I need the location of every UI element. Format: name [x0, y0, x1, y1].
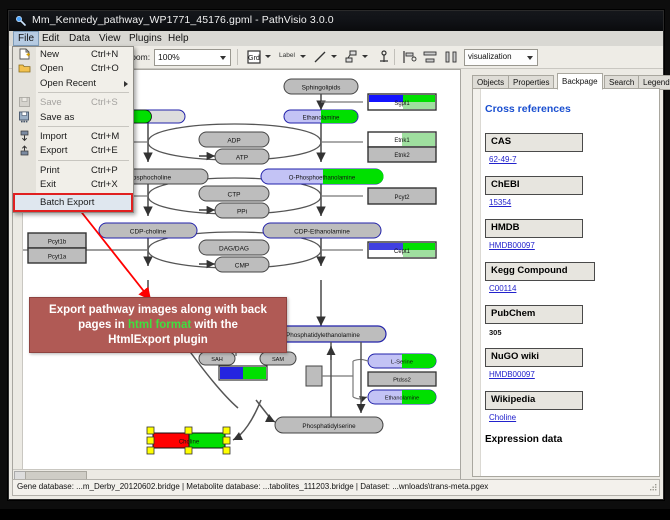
align-left-icon[interactable]: [401, 49, 417, 65]
file-menu-print-accel: Ctrl+P: [91, 165, 118, 176]
node-o-phosphoethanolamine[interactable]: O-Phosphoethanolamine: [261, 169, 384, 184]
svg-text:O-Phosphoethanolamine: O-Phosphoethanolamine: [289, 176, 356, 182]
visualization-combo[interactable]: visualization: [464, 49, 538, 66]
gene-chka[interactable]: [219, 366, 267, 380]
svg-text:CTP: CTP: [228, 192, 241, 199]
xref-source-cas: CAS: [485, 133, 583, 152]
save-as-icon: [18, 111, 31, 123]
gene-pcyt1b[interactable]: Pcyt1b: [28, 233, 86, 248]
status-bar: Gene database: ...m_Derby_20120602.bridg…: [12, 479, 660, 496]
file-menu-item-import[interactable]: Import Ctrl+M: [13, 129, 133, 143]
callout-line-3: HtmlExport plugin: [108, 334, 208, 346]
xref-source-label: CAS: [491, 136, 511, 147]
reaction-node-box[interactable]: [306, 366, 322, 386]
svg-text:CDP-choline: CDP-choline: [130, 229, 167, 236]
submenu-arrow-icon: [124, 81, 128, 87]
backpage-scrollbar[interactable]: [473, 89, 481, 476]
svg-text:Cept1: Cept1: [394, 249, 411, 255]
file-menu-exit-accel: Ctrl+X: [91, 179, 118, 190]
zoom-combo[interactable]: 100%: [154, 49, 231, 66]
svg-text:Phosphatidylserine: Phosphatidylserine: [302, 423, 356, 430]
node-cmp[interactable]: CMP: [215, 257, 269, 272]
xref-source-label: HMDB: [491, 222, 520, 233]
save-disk-icon: [18, 96, 31, 108]
gene-cept1[interactable]: Cept1: [368, 242, 436, 258]
anchor-tool-icon[interactable]: [376, 49, 392, 65]
file-menu-item-print[interactable]: Print Ctrl+P: [13, 163, 133, 177]
status-bar-text: Gene database: ...m_Derby_20120602.bridg…: [17, 482, 488, 491]
node-ppi[interactable]: PPi: [215, 203, 269, 218]
file-menu-item-open-recent[interactable]: Open Recent: [13, 76, 133, 90]
callout-line-2-post: with the: [191, 319, 238, 331]
shape-tool-icon[interactable]: [343, 49, 359, 65]
file-menu-new-label: New: [40, 49, 59, 60]
toolbar-separator-3: [394, 49, 395, 65]
backpage-panel[interactable]: Cross references CAS 62-49-7 ChEBI 15354…: [472, 88, 660, 477]
xref-value-cas[interactable]: 62-49-7: [489, 155, 517, 164]
xref-source-label: Wikipedia: [491, 394, 535, 405]
callout-line-1: Export pathway images along with back: [49, 304, 267, 316]
file-menu-item-new[interactable]: New Ctrl+N: [13, 47, 133, 61]
menu-help[interactable]: Help: [164, 32, 193, 45]
node-phosphatidylserine[interactable]: Phosphatidylserine: [275, 417, 383, 433]
visualization-value: visualization: [468, 52, 512, 61]
label-tool-text: Label: [279, 52, 295, 59]
file-menu-open-accel: Ctrl+O: [91, 63, 119, 74]
svg-text:Choline: Choline: [179, 440, 200, 446]
svg-text:L-Serine: L-Serine: [391, 360, 413, 366]
node-ctp[interactable]: CTP: [199, 186, 269, 201]
menu-bar: File Edit Data View Plugins Help: [9, 31, 663, 47]
node-sam[interactable]: SAM: [260, 352, 296, 365]
svg-text:DAG/DAG: DAG/DAG: [219, 246, 249, 253]
menu-file[interactable]: File: [13, 31, 39, 46]
tab-backpage[interactable]: Backpage: [557, 73, 603, 90]
node-choline-selected[interactable]: Choline: [147, 427, 230, 454]
node-cdp-choline[interactable]: CDP-choline: [99, 223, 197, 238]
xref-value-kegg-compound[interactable]: C00114: [489, 284, 516, 293]
menu-edit[interactable]: Edit: [38, 32, 63, 45]
svg-text:CDP-Ethanolamine: CDP-Ethanolamine: [294, 229, 350, 236]
node-l-serine[interactable]: L-Serine: [368, 354, 436, 368]
gene-sgpl1[interactable]: Sgpl1: [368, 94, 436, 110]
chevron-down-icon: [220, 56, 226, 60]
open-folder-icon: [18, 62, 31, 74]
svg-text:Etnk1: Etnk1: [394, 138, 410, 144]
title-bar: Mm_Kennedy_pathway_WP1771_45176.gpml - P…: [9, 11, 663, 31]
file-menu-save-accel: Ctrl+S: [91, 97, 118, 108]
label-caret-icon[interactable]: [300, 55, 306, 58]
file-menu-new-accel: Ctrl+N: [91, 49, 118, 60]
line-tool-icon[interactable]: [312, 49, 328, 65]
file-menu-exit-label: Exit: [40, 179, 56, 190]
xref-source-label: NuGO wiki: [491, 351, 539, 362]
distribute-icon[interactable]: [443, 49, 459, 65]
file-menu-open-recent-label: Open Recent: [40, 78, 96, 89]
file-menu-popup[interactable]: New Ctrl+N Open Ctrl+O Open Recent Save …: [12, 46, 134, 213]
side-panel: Objects Properties Backpage Search Legen…: [464, 69, 660, 480]
xref-source-hmdb: HMDB: [485, 219, 583, 238]
pathvisio-app-icon: [15, 15, 27, 27]
xref-source-chebi: ChEBI: [485, 176, 583, 195]
svg-text:Sgpl1: Sgpl1: [394, 101, 410, 107]
svg-text:Grd: Grd: [248, 55, 260, 62]
svg-text:PPi: PPi: [237, 209, 247, 216]
xref-value-pubchem: 305: [489, 328, 502, 337]
xref-source-nugo-wiki: NuGO wiki: [485, 348, 583, 367]
annotation-callout-text: Export pathway images along with back pa…: [36, 303, 280, 348]
svg-text:CMP: CMP: [235, 263, 249, 270]
svg-text:Sphingolipids: Sphingolipids: [302, 85, 341, 92]
menu-view[interactable]: View: [95, 32, 125, 45]
application-window: Mm_Kennedy_pathway_WP1771_45176.gpml - P…: [8, 10, 664, 500]
xref-value-wikipedia[interactable]: Choline: [489, 413, 516, 422]
toolbar-separator-2: [237, 49, 238, 65]
node-ethanolamine-lower[interactable]: Ethanolamine: [368, 390, 436, 404]
gene-etnk2[interactable]: Etnk2: [368, 147, 436, 162]
svg-text:ADP: ADP: [227, 138, 240, 145]
svg-text:Ethanolamine: Ethanolamine: [303, 116, 340, 122]
file-menu-item-export[interactable]: Export Ctrl+E: [13, 143, 133, 157]
xref-value-chebi[interactable]: 15354: [489, 198, 511, 207]
annotation-callout: Export pathway images along with back pa…: [29, 297, 287, 353]
import-icon: [18, 130, 31, 142]
menu-data[interactable]: Data: [65, 32, 94, 45]
svg-text:Ptdss2: Ptdss2: [393, 378, 411, 384]
callout-line-2-highlight: html format: [128, 319, 191, 331]
file-menu-item-open[interactable]: Open Ctrl+O: [13, 61, 133, 75]
svg-text:SAH: SAH: [211, 357, 223, 363]
align-center-icon[interactable]: [422, 49, 438, 65]
node-ethanolamine[interactable]: Ethanolamine: [284, 110, 358, 123]
file-menu-print-label: Print: [40, 165, 60, 176]
chevron-down-icon: [527, 56, 533, 60]
svg-text:Pcyt1a: Pcyt1a: [48, 255, 67, 261]
file-menu-batch-export-label: Batch Export: [40, 197, 94, 208]
xref-value-hmdb[interactable]: HMDB00097: [489, 241, 535, 250]
xref-source-pubchem: PubChem: [485, 305, 583, 324]
new-document-icon: [18, 48, 31, 60]
node-sah[interactable]: SAH: [199, 352, 235, 365]
callout-line-2-pre: pages in: [78, 319, 128, 331]
svg-text:ATP: ATP: [236, 155, 248, 162]
node-adp[interactable]: ADP: [199, 132, 269, 147]
cross-references-heading: Cross references: [485, 103, 571, 115]
gene-pcyt1a[interactable]: Pcyt1a: [28, 248, 86, 263]
file-menu-export-accel: Ctrl+E: [91, 145, 118, 156]
file-menu-save-label: Save: [40, 97, 62, 108]
window-title: Mm_Kennedy_pathway_WP1771_45176.gpml - P…: [32, 14, 334, 26]
file-menu-open-label: Open: [40, 63, 63, 74]
file-menu-item-exit[interactable]: Exit Ctrl+X: [13, 177, 133, 191]
node-atp[interactable]: ATP: [215, 149, 269, 164]
xref-source-label: Kegg Compound: [491, 265, 568, 276]
svg-text:Etnk2: Etnk2: [394, 153, 410, 159]
file-menu-item-save: Save Ctrl+S: [13, 95, 133, 109]
line-caret-icon[interactable]: [331, 55, 337, 58]
file-menu-item-batch-export[interactable]: Batch Export: [13, 193, 133, 212]
screenshot-frame: Mm_Kennedy_pathway_WP1771_45176.gpml - P…: [0, 0, 670, 509]
xref-value-nugo-wiki[interactable]: HMDB00097: [489, 370, 535, 379]
svg-text:Pcyt2: Pcyt2: [394, 195, 410, 201]
file-menu-import-label: Import: [40, 131, 67, 142]
shape-caret-icon[interactable]: [362, 55, 368, 58]
xref-source-kegg-compound: Kegg Compound: [485, 262, 595, 281]
svg-text:Phosphatidylethanolamine: Phosphatidylethanolamine: [286, 332, 360, 339]
file-menu-item-save-as[interactable]: Save as: [13, 110, 133, 124]
xref-source-label: PubChem: [491, 308, 535, 319]
gene-pcyt2[interactable]: Pcyt2: [368, 188, 436, 204]
expression-data-heading: Expression data: [485, 434, 562, 445]
xref-source-label: ChEBI: [491, 179, 520, 190]
file-menu-import-accel: Ctrl+M: [91, 131, 119, 142]
zoom-value: 100%: [158, 52, 180, 62]
node-sphingolipids[interactable]: Sphingolipids: [284, 79, 358, 94]
gene-etnk1[interactable]: Etnk1: [368, 132, 436, 147]
file-menu-save-as-label: Save as: [40, 112, 74, 123]
node-dag[interactable]: DAG/DAG: [199, 240, 269, 255]
svg-text:SAM: SAM: [272, 357, 284, 363]
svg-text:Ethanolamine: Ethanolamine: [385, 396, 419, 402]
node-cdp-ethanolamine[interactable]: CDP-Ethanolamine: [263, 223, 381, 238]
menu-plugins[interactable]: Plugins: [125, 32, 166, 45]
grid-caret-icon[interactable]: [265, 55, 271, 58]
side-panel-tabstrip: Objects Properties Backpage Search Legen…: [472, 73, 660, 89]
grid-toggle-icon[interactable]: Grd: [246, 49, 262, 65]
resize-grip-icon[interactable]: [649, 483, 657, 491]
xref-source-wikipedia: Wikipedia: [485, 391, 583, 410]
gene-ptdss2[interactable]: Ptdss2: [368, 372, 436, 386]
export-icon: [18, 144, 31, 156]
svg-text:Pcyt1b: Pcyt1b: [48, 240, 67, 246]
file-menu-export-label: Export: [40, 145, 67, 156]
